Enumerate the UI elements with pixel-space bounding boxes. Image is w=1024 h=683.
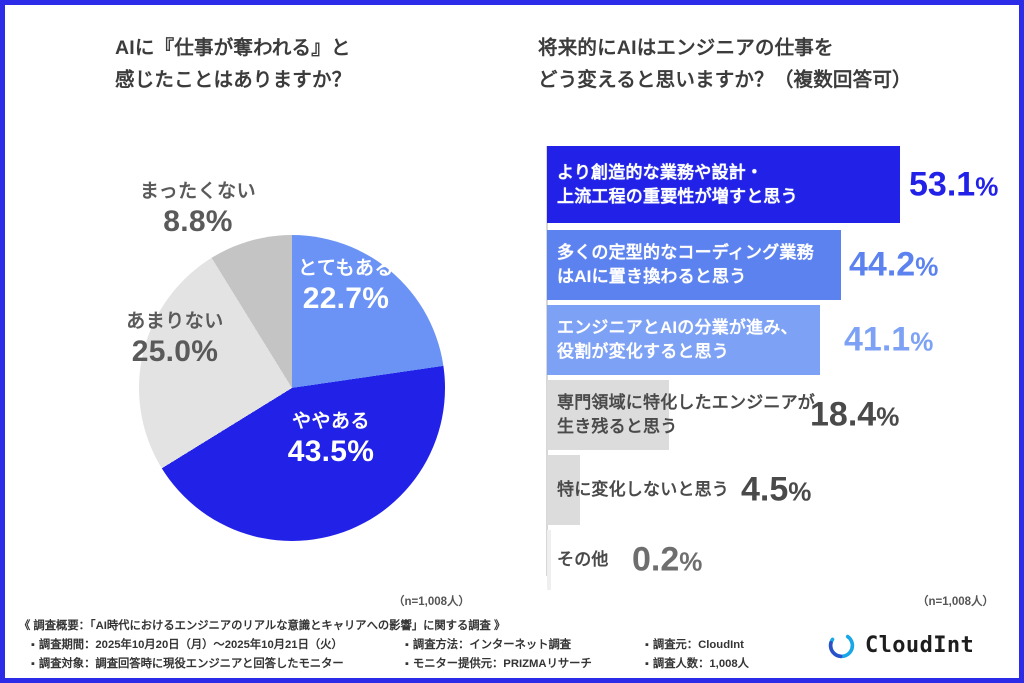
right-sample-size-label: （n=1,008人）: [917, 593, 994, 609]
bar-label-line1: 特に変化しないと思う: [557, 478, 729, 502]
bar-fill: [547, 530, 551, 590]
infographic-canvas: AIに『仕事が奪われる』と 感じたことはありますか？ 将来的にAIはエンジニアの…: [5, 5, 1019, 678]
bar-value-number: 44.2: [849, 246, 915, 284]
bar-label-line1: 多くの定型的なコーディング業務: [557, 241, 814, 265]
bar-value-percent-sign: %: [975, 171, 998, 201]
bar-value-number: 53.1: [909, 165, 975, 203]
bar-label-line2: 上流工程の重要性が増すと思う: [557, 185, 798, 209]
bar-value: 4.5%: [741, 471, 811, 510]
bar-label-line1: その他: [557, 548, 609, 572]
pie-chart: とてもある 22.7% ややある 43.5% あまりない 25.0% まったくな…: [63, 205, 511, 585]
cloudint-logo: CloudInt: [827, 631, 974, 660]
footer-survey-method: 調査方法：インターネット調査: [405, 636, 571, 652]
bar-value-number: 41.1: [844, 321, 910, 359]
bar-label-line2: はAIに置き換わると思う: [557, 265, 814, 289]
pie-slice-label-amari-nai: あまりない 25.0%: [95, 310, 255, 369]
pie-slice-label-mattaku-nai: まったくない 8.8%: [118, 180, 278, 239]
footer-monitor-provider: モニター提供元：PRIZMAリサーチ: [405, 655, 592, 671]
bar-label: 特に変化しないと思う: [557, 478, 729, 502]
bar-value: 44.2%: [849, 246, 938, 285]
left-question-title-line2: 感じたことはありますか？: [115, 65, 351, 97]
bar-label: 専門領域に特化したエンジニアが 生き残ると思う: [557, 391, 815, 439]
bar-label-line1: 専門領域に特化したエンジニアが: [557, 391, 815, 415]
pie-slice-value-amari-nai: 25.0%: [95, 334, 255, 369]
bar-label: より創造的な業務や設計・ 上流工程の重要性が増すと思う: [557, 160, 798, 208]
left-question-title: AIに『仕事が奪われる』と 感じたことはありますか？: [115, 33, 351, 96]
pie-slice-name-amari-nai: あまりない: [95, 310, 255, 334]
pie-slice-name-yaya-aru: ややある: [241, 410, 421, 434]
pie-slice-label-yaya-aru: ややある 43.5%: [241, 410, 421, 469]
bar-row: より創造的な業務や設計・ 上流工程の重要性が増すと思う 53.1%: [547, 146, 1007, 223]
bar-value: 18.4%: [810, 396, 899, 435]
bar-label-line1: より創造的な業務や設計・: [557, 160, 798, 184]
pie-slice-value-totemo-aru: 22.7%: [271, 281, 421, 316]
pie-slice-name-mattaku-nai: まったくない: [118, 180, 278, 204]
right-question-title: 将来的にAIはエンジニアの仕事を どう変えると思いますか？（複数回答可）: [538, 33, 912, 96]
footer-headline: 《 調査概要：「AI時代におけるエンジニアのリアルな意識とキャリアへの影響」に関…: [19, 617, 505, 633]
bar-label: その他: [557, 548, 609, 572]
bar-label-line2: 役割が変化すると思う: [557, 340, 798, 364]
bar-value-percent-sign: %: [788, 477, 811, 507]
bar-value-percent-sign: %: [679, 547, 702, 577]
bar-value: 41.1%: [844, 321, 933, 360]
footer-survey-target: 調査対象：調査回答時に現役エンジニアと回答したモニター: [31, 655, 344, 671]
bar-chart: より創造的な業務や設計・ 上流工程の重要性が増すと思う 53.1% 多くの定型的…: [547, 146, 1007, 586]
bar-label: 多くの定型的なコーディング業務 はAIに置き換わると思う: [557, 241, 814, 289]
bar-value: 53.1%: [909, 165, 998, 204]
right-question-title-line1: 将来的にAIはエンジニアの仕事を: [538, 33, 912, 65]
pie-slice-value-mattaku-nai: 8.8%: [118, 204, 278, 239]
bar-row: 多くの定型的なコーディング業務 はAIに置き換わると思う 44.2%: [547, 230, 1007, 300]
bar-label: エンジニアとAIの分業が進み、 役割が変化すると思う: [557, 316, 798, 364]
bar-row: その他 0.2%: [547, 530, 1007, 590]
left-sample-size-label: （n=1,008人）: [393, 593, 470, 609]
bar-value-number: 4.5: [741, 471, 788, 509]
right-question-title-line2: どう変えると思いますか？（複数回答可）: [538, 65, 912, 97]
bar-value-percent-sign: %: [876, 402, 899, 432]
bar-value-percent-sign: %: [910, 327, 933, 357]
infographic-frame: AIに『仕事が奪われる』と 感じたことはありますか？ 将来的にAIはエンジニアの…: [0, 0, 1024, 683]
bar-value: 0.2%: [632, 541, 702, 580]
left-question-title-line1: AIに『仕事が奪われる』と: [115, 33, 351, 65]
bar-value-percent-sign: %: [915, 252, 938, 282]
bar-row: 特に変化しないと思う 4.5%: [547, 455, 1007, 525]
pie-slice-label-totemo-aru: とてもある 22.7%: [271, 257, 421, 316]
bar-row: エンジニアとAIの分業が進み、 役割が変化すると思う 41.1%: [547, 305, 1007, 375]
bar-label-line2: 生き残ると思う: [557, 415, 815, 439]
cloudint-logo-text: CloudInt: [865, 633, 974, 658]
footer-respondent-count: 調査人数：1,008人: [645, 655, 749, 671]
footer-survey-source: 調査元：CloudInt: [645, 636, 744, 652]
pie-slice-value-yaya-aru: 43.5%: [241, 434, 421, 469]
footer-survey-period: 調査期間：2025年10月20日（月）〜2025年10月21日（火）: [31, 636, 343, 652]
bar-label-line1: エンジニアとAIの分業が進み、: [557, 316, 798, 340]
bar-value-number: 0.2: [632, 541, 679, 579]
bar-value-number: 18.4: [810, 396, 876, 434]
pie-slice-name-totemo-aru: とてもある: [271, 257, 421, 281]
cloudint-logo-mark-icon: [827, 631, 856, 660]
bar-row: 専門領域に特化したエンジニアが 生き残ると思う 18.4%: [547, 380, 1007, 450]
